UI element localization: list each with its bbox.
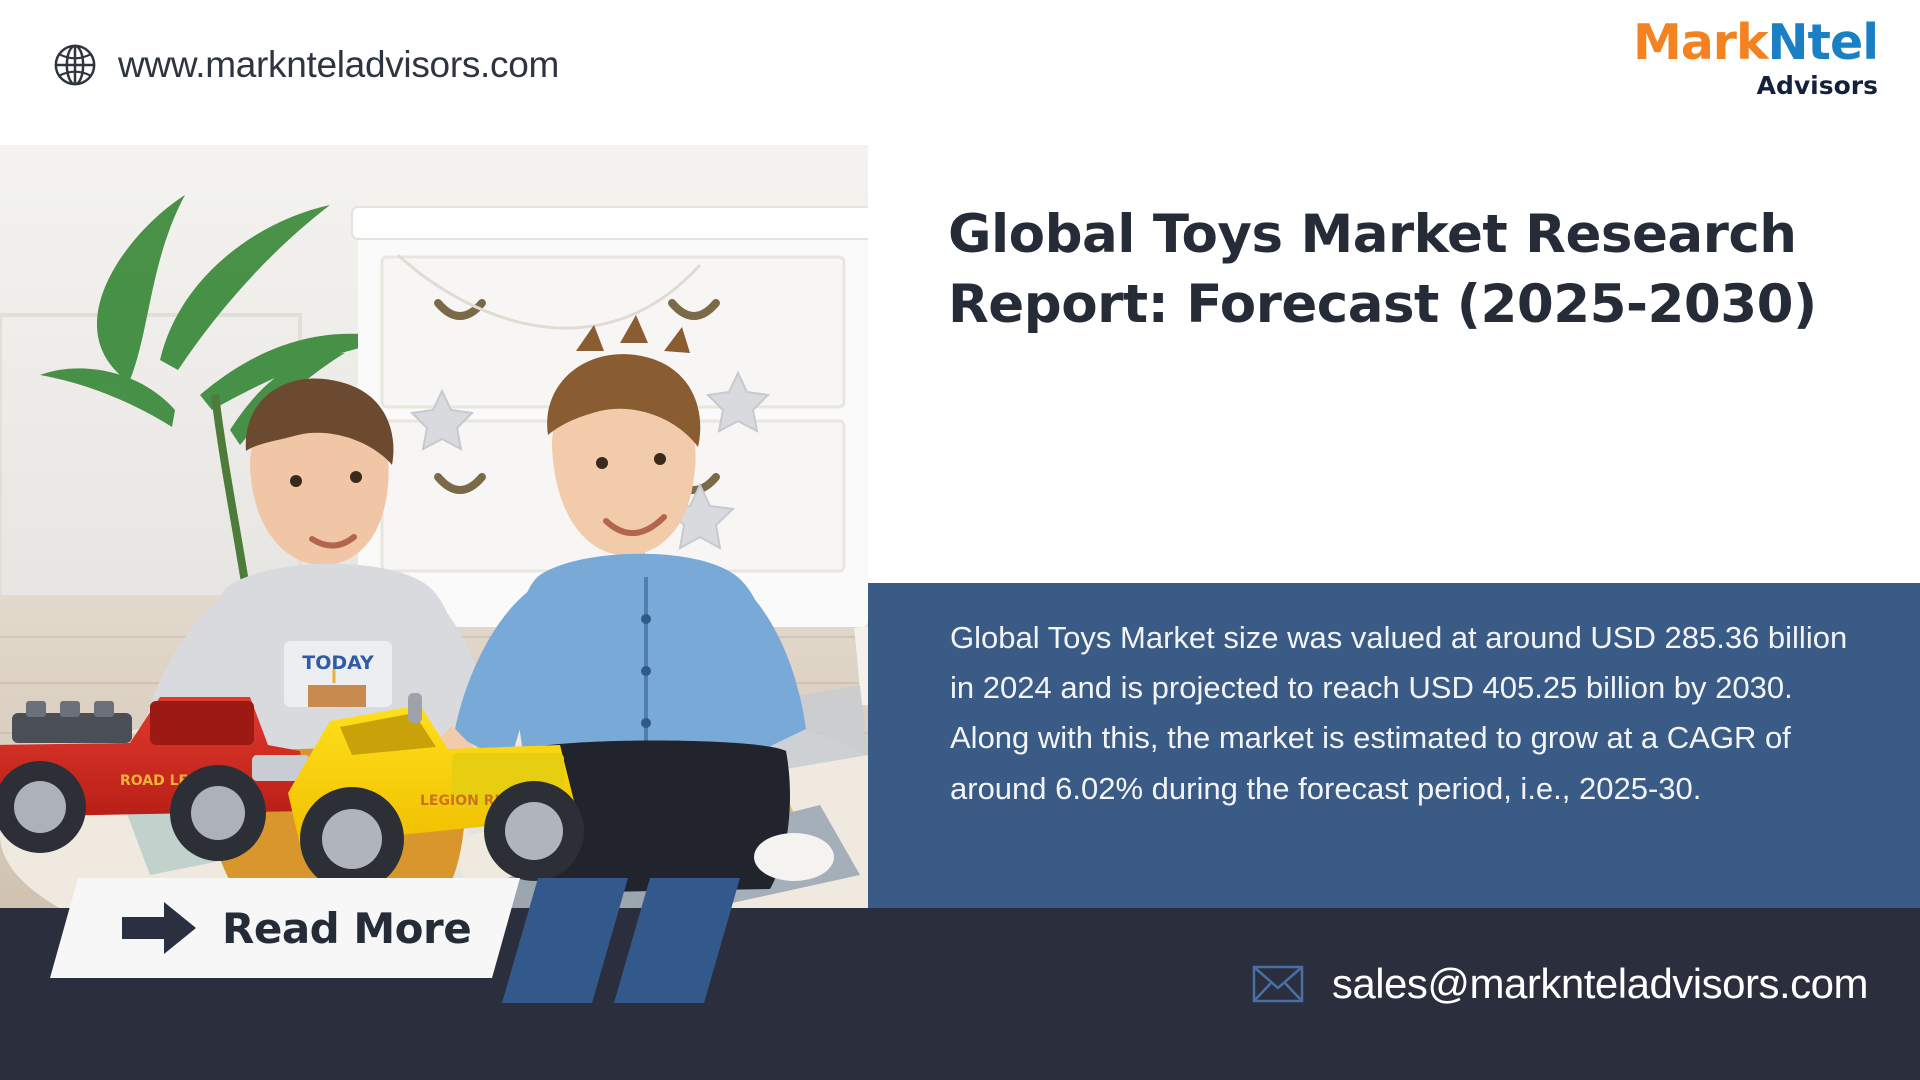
email-address-text: sales@marknteladvisors.com <box>1332 960 1868 1008</box>
envelope-icon <box>1252 965 1304 1003</box>
read-more-label: Read More <box>222 904 471 953</box>
description-panel: Global Toys Market size was valued at ar… <box>868 583 1920 908</box>
market-summary-text: Global Toys Market size was valued at ar… <box>950 613 1855 814</box>
page-title: Global Toys Market Research Report: Fore… <box>948 200 1848 341</box>
logo-mark-text: Mark <box>1633 14 1768 71</box>
email-contact[interactable]: sales@marknteladvisors.com <box>1252 960 1868 1008</box>
svg-text:TODAY: TODAY <box>302 652 374 674</box>
website-url-text: www.marknteladvisors.com <box>118 44 559 86</box>
globe-icon <box>52 42 98 88</box>
logo-ntel-text: Ntel <box>1768 14 1878 71</box>
arrow-right-icon <box>122 902 196 954</box>
company-logo[interactable]: MarkNtel Advisors <box>1633 18 1878 98</box>
hero-photo-illustration: TODAY <box>0 145 868 910</box>
diagonal-stripes-decoration <box>500 878 820 1003</box>
logo-wordmark: MarkNtel <box>1633 18 1878 67</box>
hero-photo: TODAY <box>0 145 868 910</box>
website-link[interactable]: www.marknteladvisors.com <box>52 42 559 88</box>
logo-subtitle: Advisors <box>1633 73 1878 98</box>
read-more-button[interactable]: Read More <box>50 878 520 978</box>
title-panel: Global Toys Market Research Report: Fore… <box>868 145 1920 583</box>
page-header: www.marknteladvisors.com MarkNtel Adviso… <box>0 0 1920 145</box>
